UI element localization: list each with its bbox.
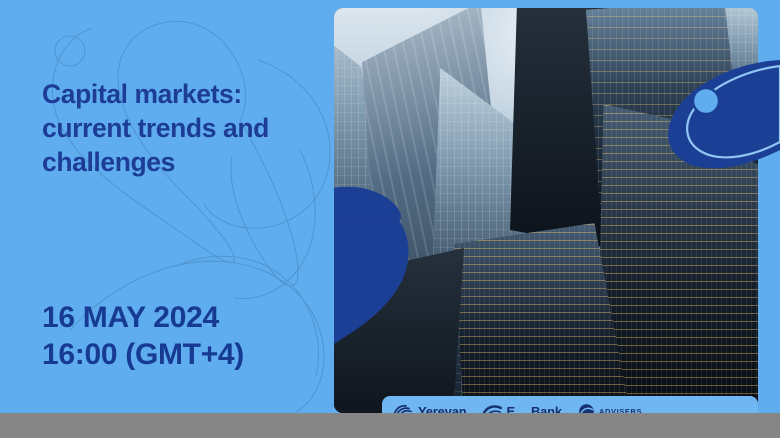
photo-inner bbox=[334, 8, 758, 413]
photo-tower-bottom-left bbox=[334, 248, 464, 413]
skyscraper-photo bbox=[334, 8, 758, 413]
event-datetime: 16 MAY 2024 16:00 (GMT+4) bbox=[42, 300, 342, 373]
page-title: Capital markets: current trends and chal… bbox=[42, 78, 327, 180]
screenshot-bottom-strip bbox=[0, 413, 780, 438]
event-poster: Capital markets: current trends and chal… bbox=[0, 0, 780, 438]
